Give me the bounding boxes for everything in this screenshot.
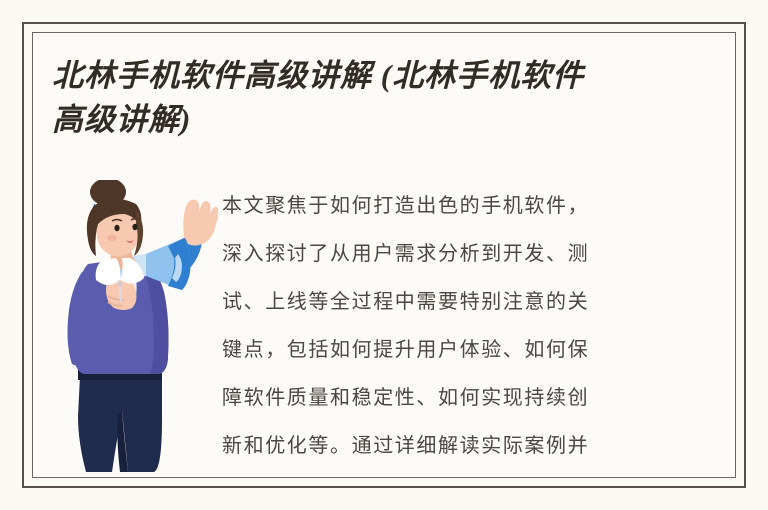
body-line: 本文聚焦于如何打造出色的手机软件，: [222, 182, 727, 230]
body-line: 障软件质量和稳定性、如何实现持续创: [222, 374, 727, 422]
body-line: 深入探讨了从用户需求分析到开发、测: [222, 230, 727, 278]
article-card-page: 北林手机软件高级讲解 (北林手机软件 高级讲解): [0, 0, 768, 510]
page-title: 北林手机软件高级讲解 (北林手机软件 高级讲解): [52, 54, 724, 142]
card-content: 北林手机软件高级讲解 (北林手机软件 高级讲解): [32, 32, 736, 478]
body-line: 试、上线等全过程中需要特别注意的关: [222, 278, 727, 326]
article-body: 本文聚焦于如何打造出色的手机软件， 深入探讨了从用户需求分析到开发、测 试、上线…: [222, 182, 727, 470]
woman-with-megaphone-illustration: [50, 180, 218, 472]
body-line: 新和优化等。通过详细解读实际案例并: [222, 422, 727, 470]
body-line: 键点，包括如何提升用户体验、如何保: [222, 326, 727, 374]
